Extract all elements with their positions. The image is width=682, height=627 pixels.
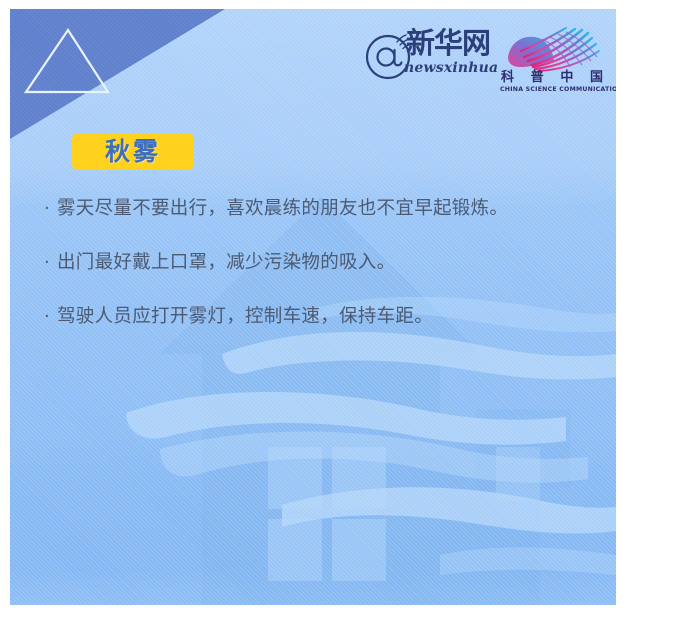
logo-kepu-char-2: 中 [560,71,573,84]
logo-newsxinhua: 新华网 newsxinhua [364,27,486,89]
list-item: · 出门最好戴上口罩，减少污染物的吸入。 [44,249,604,277]
title-badge-text: 秋雾 [105,139,161,164]
poster-frame: 新华网 newsxinhua [0,0,682,627]
bullet-dot-icon: · [44,303,57,331]
logo-kepu-cn: 科 普 中 国 [501,71,603,84]
bullet-dot-icon: · [44,249,57,277]
logo-xinhua-en: newsxinhua [404,60,498,76]
logo-kepu-char-0: 科 [501,71,514,84]
poster-panel: 新华网 newsxinhua [10,9,616,605]
logo-kepu-zhongguo: 科 普 中 国 CHINA SCIENCE COMMUNICATION [500,27,604,95]
wing-fan-icon [502,27,602,73]
tip-text: 出门最好戴上口罩，减少污染物的吸入。 [57,249,395,277]
bullet-dot-icon: · [44,195,57,223]
logo-kepu-char-3: 国 [590,71,603,84]
logo-xinhua-cn: 新华网 [406,29,490,58]
tip-text: 雾天尽量不要出行，喜欢晨练的朋友也不宜早起锻炼。 [57,195,508,223]
tip-text: 驾驶人员应打开雾灯，控制车速，保持车距。 [57,303,433,331]
list-item: · 驾驶人员应打开雾灯，控制车速，保持车距。 [44,303,604,331]
tips-list: · 雾天尽量不要出行，喜欢晨练的朋友也不宜早起锻炼。 · 出门最好戴上口罩，减少… [44,195,604,357]
logo-kepu-char-1: 普 [531,71,544,84]
title-badge: 秋雾 [72,133,194,170]
logo-row: 新华网 newsxinhua [364,27,604,95]
triangle-outline-icon [22,26,112,98]
logo-kepu-en: CHINA SCIENCE COMMUNICATION [500,86,604,93]
list-item: · 雾天尽量不要出行，喜欢晨练的朋友也不宜早起锻炼。 [44,195,604,223]
